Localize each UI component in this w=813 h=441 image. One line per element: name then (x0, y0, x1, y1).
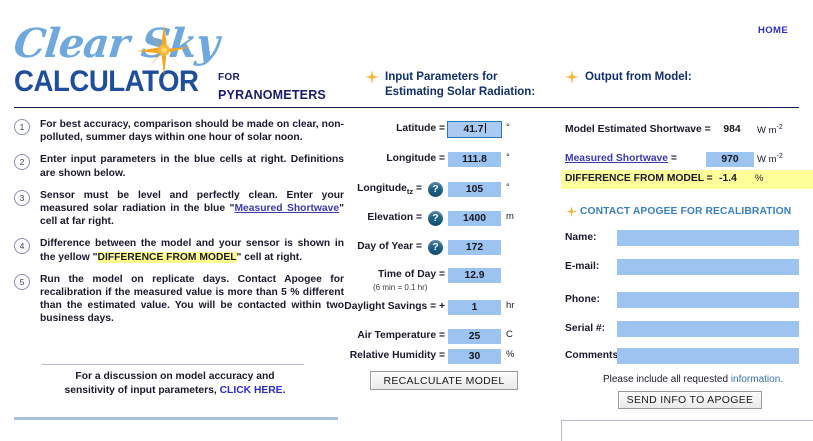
output-heading-text: Output from Model: (585, 70, 805, 85)
latitude-unit: ° (506, 122, 510, 133)
longitude-input[interactable]: 111.8 (448, 152, 501, 167)
param-row-day-of-year: Day of Year = (300, 241, 422, 258)
longitude-tz-unit: ° (506, 182, 510, 193)
instruction-item-1: 1 For best accuracy, comparison should b… (14, 118, 344, 144)
difference-from-model-unit: % (755, 173, 763, 184)
please-include-note: Please include all requested information… (578, 374, 808, 385)
instruction-text-after: " cell at right. (237, 252, 303, 263)
model-estimated-shortwave-value: 984 (715, 124, 749, 135)
input-heading-line1: Input Parameters for (385, 70, 565, 85)
contact-label-email: E-mail: (565, 261, 599, 272)
param-label-elevation: Elevation = (367, 212, 422, 223)
contact-serial-input[interactable] (617, 321, 799, 337)
instruction-number: 2 (14, 154, 30, 170)
instruction-text: For best accuracy, comparison should be … (40, 118, 344, 144)
param-label-longitude: Longitude = (386, 153, 445, 164)
note-line2-before: sensitivity of input parameters, (65, 385, 220, 396)
instruction-item-3: 3 Sensor must be level and perfectly cle… (14, 189, 344, 229)
help-icon-day-of-year[interactable]: ? (428, 240, 443, 255)
contact-email-input[interactable] (617, 259, 799, 275)
measured-shortwave-unit: W m-2 (757, 153, 783, 165)
small-star-icon (565, 70, 579, 84)
home-link[interactable]: HOME (758, 25, 788, 36)
instruction-item-4: 4 Difference between the model and your … (14, 237, 344, 263)
day-of-year-input[interactable]: 172 (448, 240, 501, 255)
help-icon-elevation[interactable]: ? (428, 211, 443, 226)
param-label-relative-humidity: Relative Humidity = (350, 350, 445, 361)
header-divider (14, 107, 799, 108)
product-label: PYRANOMETERS (218, 88, 326, 102)
elevation-unit: m (506, 211, 514, 222)
measured-shortwave-link[interactable]: Measured Shortwave (565, 153, 668, 164)
elevation-input[interactable]: 1400 (448, 211, 501, 226)
model-estimated-shortwave-unit: W m-2 (757, 124, 783, 136)
param-row-daylight-savings: Daylight Savings = + (290, 301, 445, 318)
air-temperature-input[interactable]: 25 (448, 329, 501, 344)
instruction-number: 5 (14, 274, 30, 290)
small-star-icon (365, 70, 379, 84)
note-line1: For a discussion on model accuracy and (75, 371, 274, 382)
contact-label-name: Name: (565, 232, 596, 243)
latitude-input[interactable]: 41.7 (448, 122, 501, 137)
contact-label-serial: Serial #: (565, 323, 605, 334)
instruction-text: Enter input parameters in the blue cells… (40, 153, 344, 179)
param-row-longitude: Longitude = (300, 153, 445, 170)
for-label: FOR (218, 72, 240, 83)
param-row-latitude: Latitude = (300, 123, 445, 140)
small-star-icon (566, 206, 577, 217)
contact-label-comments: Comments: (565, 350, 622, 361)
instruction-number: 1 (14, 119, 30, 135)
send-info-to-apogee-button[interactable]: SEND INFO TO APOGEE (618, 391, 762, 409)
difference-from-model-label: DIFFERENCE FROM MODEL = (565, 173, 713, 184)
sunburst-star-icon (137, 24, 191, 76)
param-row-relative-humidity: Relative Humidity = (290, 350, 445, 367)
param-row-longitude-tz: Longitudetz = (300, 183, 422, 200)
recalculate-model-button[interactable]: RECALCULATE MODEL (370, 371, 518, 390)
model-estimated-shortwave-label: Model Estimated Shortwave = (565, 124, 711, 135)
longitude-tz-input[interactable]: 105 (448, 182, 501, 197)
relative-humidity-unit: % (506, 349, 514, 360)
model-accuracy-note: For a discussion on model accuracy and s… (30, 370, 320, 397)
param-label-time-of-day: Time of Day = (378, 269, 445, 280)
difference-from-model-value: -1.4 (710, 173, 746, 184)
contact-phone-input[interactable] (617, 292, 799, 308)
param-row-air-temperature: Air Temperature = (290, 330, 445, 347)
bottom-right-box (561, 420, 813, 441)
contact-heading-text: CONTACT APOGEE FOR RECALIBRATION (580, 206, 791, 217)
instruction-item-2: 2 Enter input parameters in the blue cel… (14, 153, 344, 179)
input-heading-line2: Estimating Solar Radiation: (385, 85, 565, 100)
clear-sky-calculator-page: HOME Clear Sky CALCULATOR FOR PYRANOMETE… (0, 0, 813, 436)
contact-name-input[interactable] (617, 230, 799, 246)
contact-comments-input[interactable] (617, 348, 799, 364)
instruction-number: 4 (14, 238, 30, 254)
param-label-longitude-tz: Longitudetz = (357, 183, 422, 196)
time-of-day-input[interactable]: 12.9 (448, 268, 501, 283)
measured-shortwave-label: Measured Shortwave = (565, 153, 677, 164)
difference-from-model-highlight: DIFFERENCE FROM MODEL (98, 252, 237, 263)
bottom-left-divider (14, 417, 338, 420)
longitude-unit: ° (506, 152, 510, 163)
daylight-savings-input[interactable]: 1 (448, 300, 501, 315)
help-icon-longitude-tz[interactable]: ? (428, 182, 443, 197)
air-temperature-unit: C (506, 329, 513, 340)
instruction-text: Difference between the model and your se… (40, 237, 344, 263)
param-label-day-of-year: Day of Year = (357, 241, 422, 252)
note-line2-after: . (283, 385, 286, 396)
click-here-link[interactable]: CLICK HERE (220, 385, 283, 396)
param-row-elevation: Elevation = (300, 212, 422, 229)
instruction-number: 3 (14, 190, 30, 206)
input-column-heading: Input Parameters for Estimating Solar Ra… (385, 70, 565, 100)
param-label-daylight-savings: Daylight Savings = + (344, 301, 445, 312)
daylight-savings-unit: hr (506, 300, 514, 311)
time-of-day-subnote: (6 min = 0.1 hr) (373, 283, 427, 292)
note-divider (42, 364, 304, 365)
output-column-heading: Output from Model: (585, 70, 805, 85)
text-caret (485, 123, 486, 133)
instruction-text: Sensor must be level and perfectly clean… (40, 189, 344, 229)
contact-label-phone: Phone: (565, 294, 600, 305)
param-label-latitude: Latitude = (396, 123, 445, 134)
clear-sky-logo: Clear Sky CALCULATOR (14, 18, 214, 98)
contact-apogee-heading: CONTACT APOGEE FOR RECALIBRATION (580, 206, 791, 217)
measured-shortwave-input[interactable]: 970 (706, 152, 754, 167)
relative-humidity-input[interactable]: 30 (448, 349, 501, 364)
param-label-air-temperature: Air Temperature = (357, 330, 445, 341)
